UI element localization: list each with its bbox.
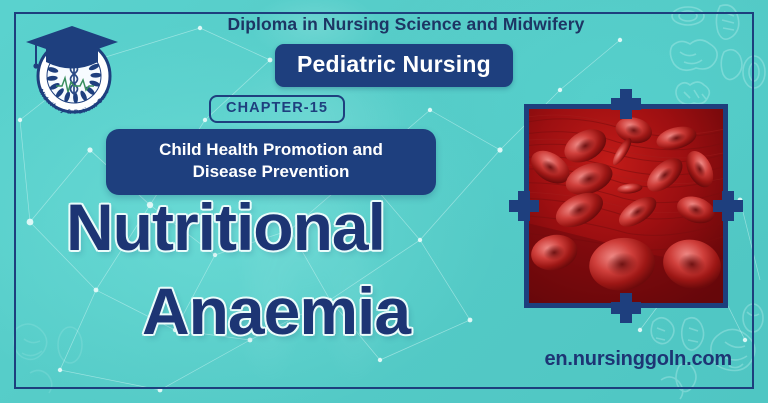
unit-title-box: Child Health Promotion and Disease Preve… — [106, 129, 436, 195]
course-title-pill: Pediatric Nursing — [275, 44, 513, 87]
page-title: Nutritional Anaemia — [46, 196, 506, 344]
institution-logo: Midwifery & Patient Care — [22, 18, 126, 122]
cross-decoration-right-icon — [711, 189, 745, 223]
red-blood-cells-image — [529, 109, 723, 303]
chapter-badge: CHAPTER-15 — [209, 95, 345, 123]
cross-decoration-top-icon — [609, 87, 643, 121]
blood-cells-image-block — [524, 104, 728, 308]
image-frame-border — [524, 104, 728, 308]
page-title-line-1: Nutritional — [46, 196, 506, 259]
page-title-line-2: Anaemia — [46, 280, 506, 343]
cross-decoration-bottom-icon — [609, 291, 643, 325]
website-url[interactable]: en.nursinggoln.com — [544, 348, 732, 371]
unit-title-line-1: Child Health Promotion and — [120, 139, 422, 161]
cross-decoration-left-icon — [507, 189, 541, 223]
unit-title-line-2: Disease Prevention — [120, 161, 422, 183]
course-poster: Midwifery & Patient Care Diploma in Nurs… — [0, 0, 768, 403]
diploma-line: Diploma in Nursing Science and Midwifery — [178, 14, 634, 35]
